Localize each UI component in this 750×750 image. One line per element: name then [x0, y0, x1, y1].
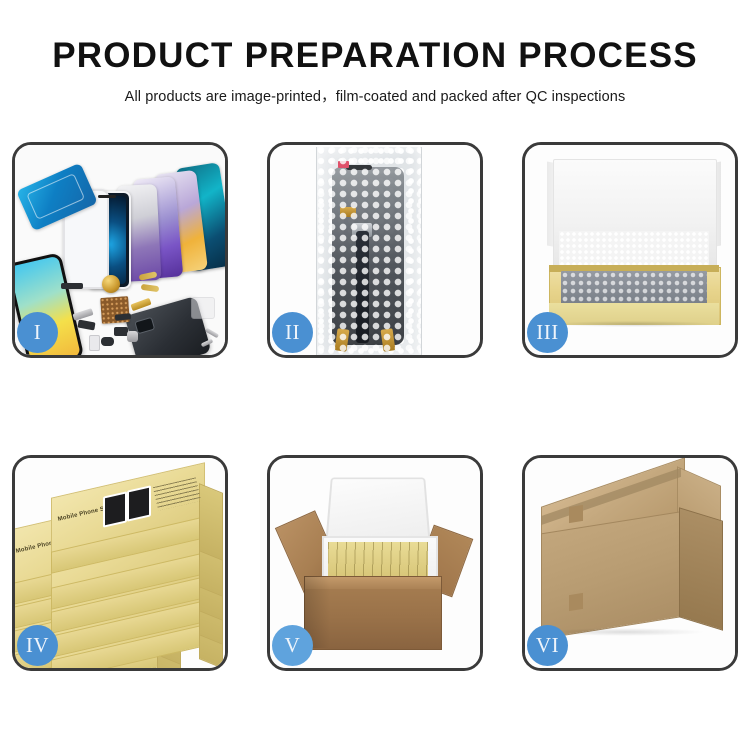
page-header: PRODUCT PREPARATION PROCESS All products… — [0, 0, 750, 106]
spare-part-speaker — [101, 337, 114, 346]
step-badge-2: II — [272, 312, 313, 353]
box-phone-image — [127, 485, 151, 522]
carton-tape-lower — [569, 593, 583, 611]
spare-part-chip — [114, 327, 128, 336]
spare-part-button — [89, 335, 100, 351]
step-numeral: IV — [26, 633, 49, 658]
carton-side-face — [679, 507, 723, 630]
spare-part-camera — [127, 331, 138, 342]
drop-shadow — [545, 628, 705, 636]
step-numeral: I — [34, 320, 42, 345]
page-subtitle: All products are image-printed，film-coat… — [0, 75, 750, 106]
gold-coil-part — [102, 275, 120, 293]
step-badge-6: VI — [527, 625, 568, 666]
step-numeral: II — [285, 320, 300, 345]
step-card-6[interactable]: VI — [522, 455, 738, 671]
drop-shadow — [553, 321, 715, 327]
box-phone-image — [103, 491, 127, 528]
carton-front-face — [541, 511, 685, 640]
step-badge-1: I — [17, 312, 58, 353]
step-card-2[interactable]: II — [267, 142, 483, 358]
spare-part-tool — [191, 297, 215, 319]
carton-tape-upper — [569, 505, 583, 523]
step-badge-5: V — [272, 625, 313, 666]
step-numeral: V — [285, 633, 301, 658]
flex-cable — [356, 231, 369, 343]
qc-sticker — [338, 161, 349, 168]
step-badge-3: III — [527, 312, 568, 353]
gold-contact-top — [340, 207, 356, 217]
step-card-5[interactable]: V — [267, 455, 483, 671]
spare-part-chip — [61, 283, 83, 289]
bubble-wrapped-contents — [561, 271, 707, 307]
step-card-4[interactable]: Mobile Phone Spare Parts — [12, 455, 228, 671]
step-card-1[interactable]: I — [12, 142, 228, 358]
step-badge-4: IV — [17, 625, 58, 666]
step-card-3[interactable]: III — [522, 142, 738, 358]
process-steps-grid: I II — [12, 142, 738, 687]
page-title: PRODUCT PREPARATION PROCESS — [0, 0, 750, 75]
step-numeral: VI — [536, 633, 559, 658]
step-numeral: III — [536, 320, 558, 345]
